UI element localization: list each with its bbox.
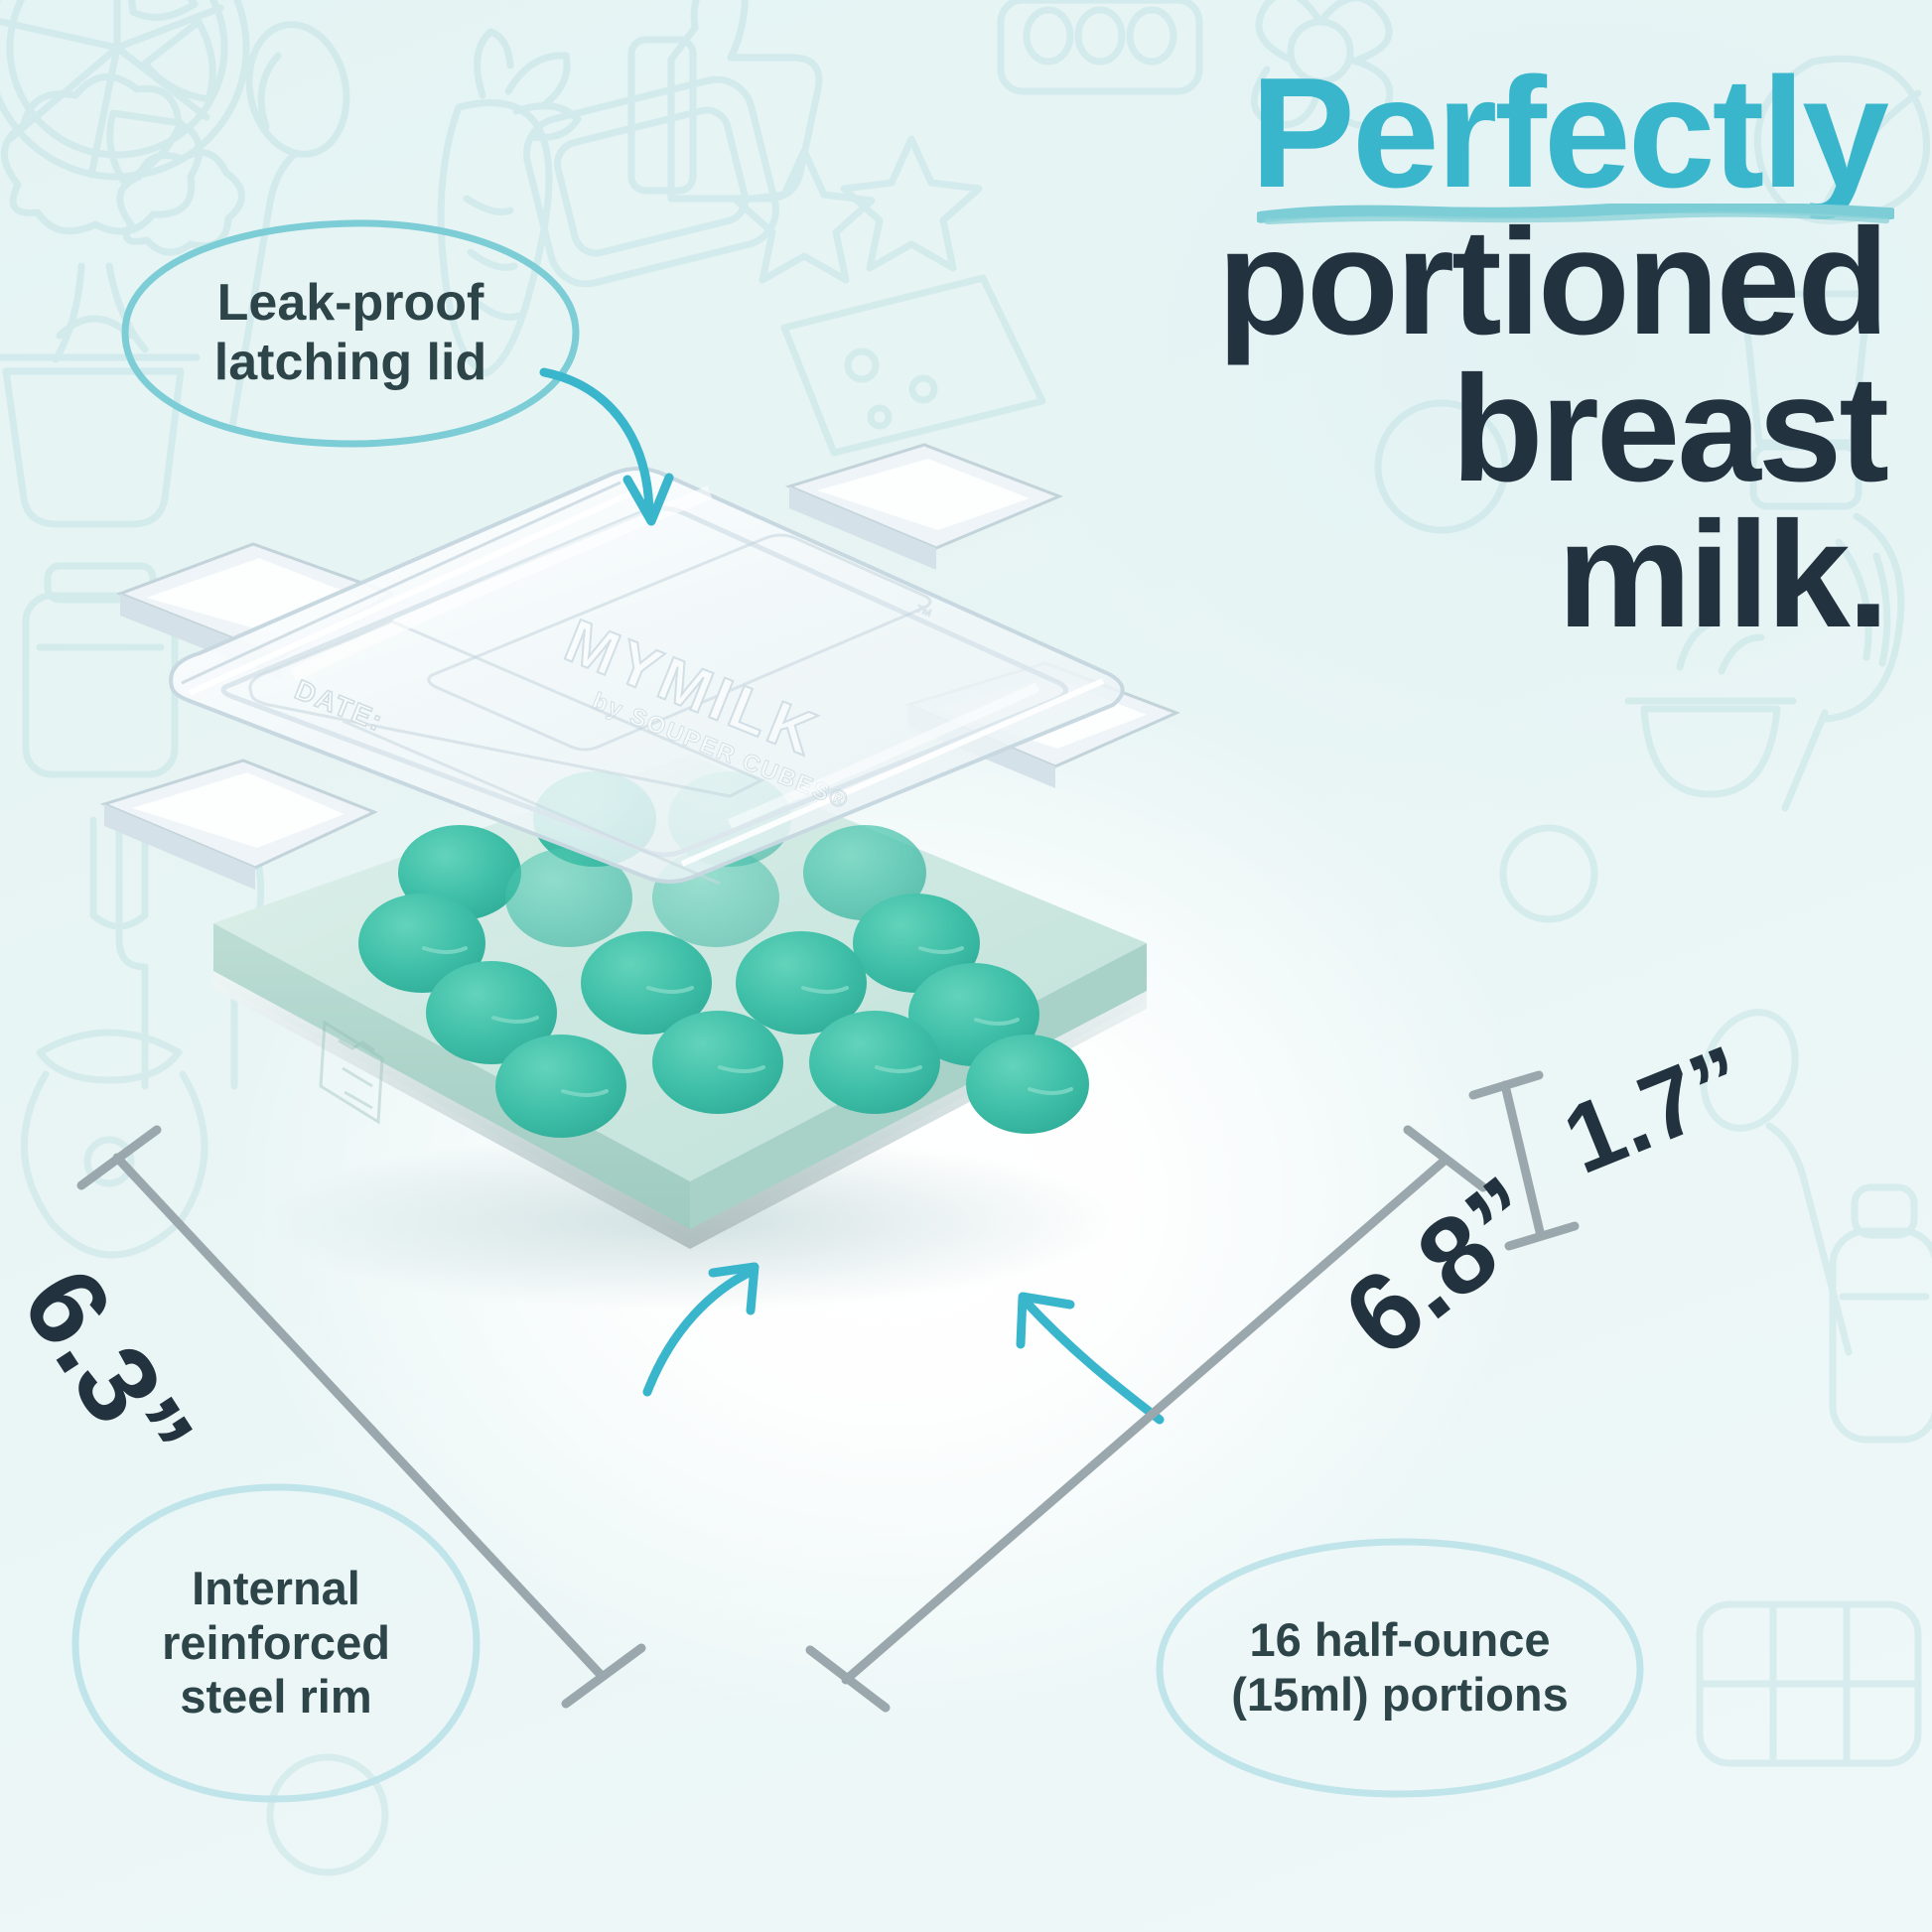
doodle-bottle [1833, 1187, 1932, 1440]
callout-leak-proof-lid: Leak-proof latching lid [117, 213, 584, 452]
callout-lid-line-2: latching lid [214, 333, 486, 392]
callout-rim-line-3: steel rim [180, 1670, 371, 1725]
doodle-tray-2 [1700, 1604, 1918, 1763]
infographic-canvas: Perfectly portioned breast milk. [0, 0, 1932, 1932]
headline-line-2: portioned [834, 209, 1886, 355]
headline-line-1-wrapper: Perfectly [1251, 58, 1887, 209]
callout-steel-rim: Internal reinforced steel rim [68, 1479, 484, 1807]
callout-rim-line-2: reinforced [162, 1616, 390, 1671]
headline-line-1: Perfectly [1251, 46, 1887, 220]
callout-portions: 16 half-ounce (15ml) portions [1152, 1534, 1648, 1802]
headline-underline-stroke [1257, 204, 1895, 225]
callout-portions-line-2: (15ml) portions [1231, 1668, 1568, 1723]
callout-rim-line-1: Internal [192, 1562, 360, 1616]
doodle-thumbs-up [631, 0, 819, 199]
callout-portions-line-1: 16 half-ounce [1250, 1613, 1551, 1668]
lid-latch-left-lower [104, 760, 374, 890]
callout-lid-line-1: Leak-proof [217, 273, 484, 333]
